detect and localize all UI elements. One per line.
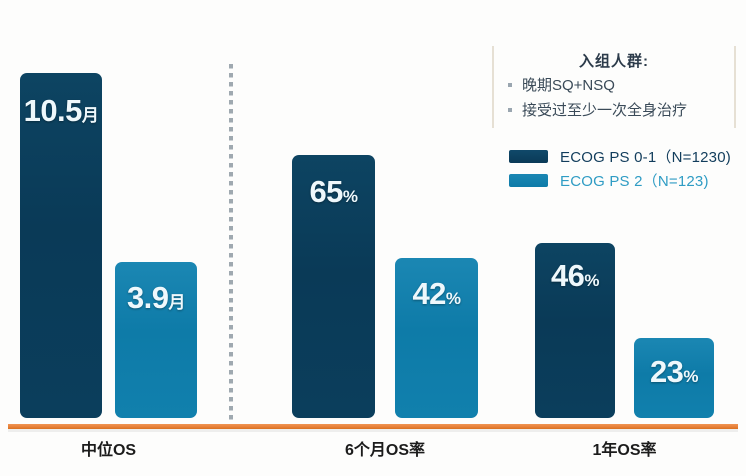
bar-value-unit: % [683,367,698,386]
group-divider [229,64,233,422]
bar-value-unit: % [446,289,461,308]
annotation-list-item: 晚期SQ+NSQ [506,73,730,98]
category-label-1year-os-rate: 1年OS率 [535,436,714,460]
bar-value-unit: 月 [169,293,186,312]
bullet-icon [508,108,512,112]
bar-value-unit: % [343,187,358,206]
bar-value-unit: % [584,271,599,290]
annotation-list: 晚期SQ+NSQ 接受过至少一次全身治疗 [506,73,730,123]
legend-item-ecog-ps-2[interactable]: ECOG PS 2（N=123) [509,170,731,190]
legend-item-ecog-ps-0-1[interactable]: ECOG PS 0-1（N=1230) [509,146,731,166]
x-axis-shadow [8,429,738,432]
bar-dark-median-os[interactable]: 10.5月 [20,73,102,418]
legend-label: ECOG PS 2（N=123) [560,170,709,191]
chart-legend: ECOG PS 0-1（N=1230) ECOG PS 2（N=123) [509,146,731,194]
bullet-icon [508,83,512,87]
bar-value-number: 10.5 [24,93,82,128]
bar-value-label: 42% [395,278,478,309]
annotation-item-text: 晚期SQ+NSQ [522,77,615,94]
bar-value-number: 42 [412,276,445,311]
bar-dark-1year-os-rate[interactable]: 46% [535,243,615,418]
category-label-6month-os-rate: 6个月OS率 [292,436,478,460]
annotation-item-text: 接受过至少一次全身治疗 [522,102,687,119]
annotation-list-item: 接受过至少一次全身治疗 [506,98,730,123]
bar-value-number: 65 [309,174,342,209]
bar-teal-1year-os-rate[interactable]: 23% [634,338,714,418]
bar-value-label: 10.5月 [20,95,102,126]
bar-value-number: 3.9 [127,280,169,315]
bar-value-number: 23 [650,354,683,389]
legend-swatch-icon [509,174,548,187]
bar-value-number: 46 [551,258,584,293]
bar-value-label: 3.9月 [115,282,197,313]
bar-teal-median-os[interactable]: 3.9月 [115,262,197,418]
bar-dark-6month-os-rate[interactable]: 65% [292,155,375,418]
bar-teal-6month-os-rate[interactable]: 42% [395,258,478,418]
bar-value-unit: 月 [82,106,99,125]
bar-value-label: 46% [535,260,615,291]
legend-label: ECOG PS 0-1（N=1230) [560,146,731,167]
category-label-median-os: 中位OS [20,436,197,460]
legend-swatch-icon [509,150,548,163]
annotation-title: 入组人群: [492,50,736,71]
bar-value-label: 65% [292,176,375,207]
annotation-box: 入组人群: 晚期SQ+NSQ 接受过至少一次全身治疗 [492,46,736,128]
bar-chart: 10.5月 3.9月 65% 42% 46% [0,0,746,476]
bar-value-label: 23% [634,356,714,387]
